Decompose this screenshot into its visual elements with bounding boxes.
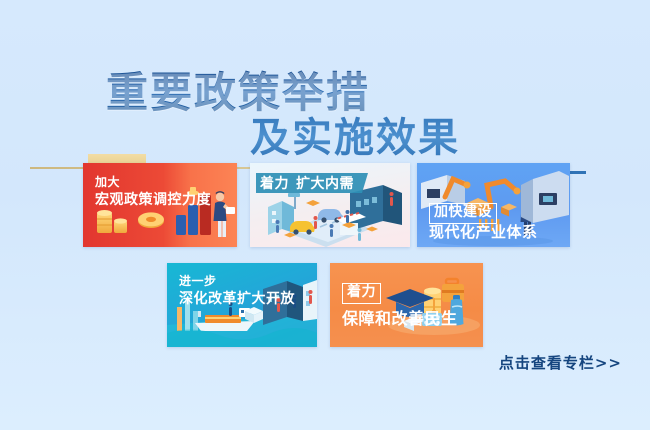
card-livelihood-line-1-text: 着力 [342, 283, 381, 304]
card-livelihood-line-2: 保障和改善民生 [342, 309, 458, 329]
page-title-line-2: 及实施效果 [250, 105, 460, 163]
card-modern-industry-line-1-text: 加快建设 [429, 203, 497, 224]
card-macro-policy[interactable]: 加大 宏观政策调控力度 [83, 163, 237, 247]
card-modern-industry-line-1: 加快建设 [429, 203, 497, 224]
card-reform-opening-line-2: 深化改革扩大开放 [179, 291, 295, 309]
banner-title-block: 重要政策举措 及实施效果 [0, 55, 650, 150]
card-livelihood[interactable]: 着力 保障和改善民生 [330, 263, 483, 347]
card-macro-policy-line-1: 加大 [95, 175, 120, 190]
card-modern-industry-line-2: 现代化产业体系 [429, 223, 538, 242]
card-livelihood-line-1: 着力 [342, 283, 381, 304]
view-column-link[interactable]: 点击查看专栏>> [499, 352, 622, 373]
card-domestic-demand[interactable]: 着力 扩大内需 [250, 163, 410, 247]
card-reform-opening-line-1: 进一步 [179, 274, 217, 289]
banner-stage: 重要政策举措 及实施效果 [0, 0, 650, 430]
card-modern-industry[interactable]: 加快建设 现代化产业体系 [417, 163, 570, 247]
card-domestic-demand-line-1: 着力 [260, 176, 289, 194]
livelihood-illustration [330, 263, 483, 347]
card-domestic-demand-line-2: 扩大内需 [296, 176, 354, 194]
card-reform-opening[interactable]: 进一步 深化改革扩大开放 [167, 263, 317, 347]
card-macro-policy-line-2: 宏观政策调控力度 [95, 192, 211, 210]
